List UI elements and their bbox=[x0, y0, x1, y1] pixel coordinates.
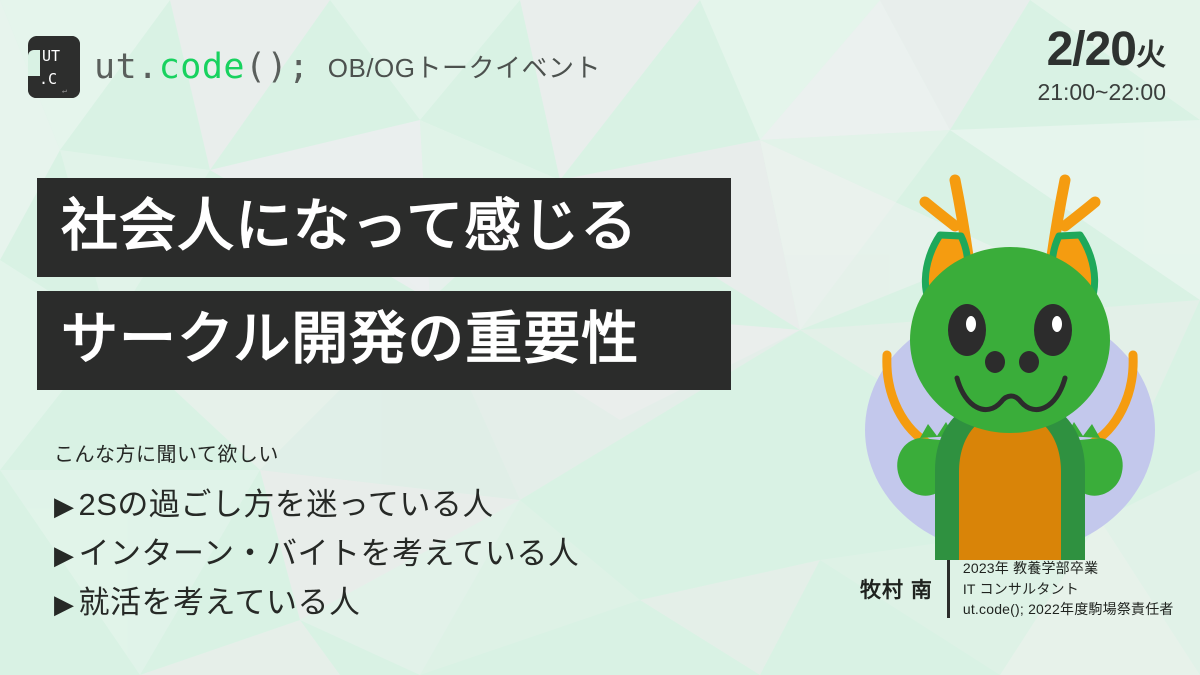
audience-lead: こんな方に聞いて欲しい bbox=[54, 443, 579, 467]
audience-item: ▶ インターン・バイトを考えている人 bbox=[54, 530, 579, 579]
speaker-block: 牧村 南 2023年 教養学部卒業 IT コンサルタント ut.code(); … bbox=[860, 558, 1174, 620]
triangle-bullet-icon: ▶ bbox=[54, 584, 75, 625]
date-block: 2/20火 21:00~22:00 bbox=[1037, 26, 1166, 108]
svg-text:UT: UT bbox=[42, 47, 60, 65]
svg-text:.C: .C bbox=[39, 70, 57, 88]
event-date-value: 2/20 bbox=[1047, 23, 1136, 76]
event-time: 21:00~22:00 bbox=[1037, 78, 1166, 108]
wordmark-prefix: ut. bbox=[94, 47, 159, 87]
audience-block: こんな方に聞いて欲しい ▶ 2Sの過ごし方を迷っている人 ▶ インターン・バイト… bbox=[54, 443, 579, 628]
dragon-mascot-icon bbox=[845, 140, 1175, 560]
triangle-bullet-icon: ▶ bbox=[54, 486, 75, 527]
speaker-credits: 2023年 教養学部卒業 IT コンサルタント ut.code(); 2022年… bbox=[963, 558, 1174, 620]
audience-item: ▶ 2Sの過ごし方を迷っている人 bbox=[54, 481, 579, 530]
event-date: 2/20火 bbox=[1037, 26, 1166, 74]
utc-logo-icon: UT .C ↵ bbox=[28, 36, 80, 98]
header: UT .C ↵ ut.code(); OB/OGトークイベント 2/20火 21… bbox=[0, 0, 1200, 130]
audience-item: ▶ 就活を考えている人 bbox=[54, 579, 579, 628]
title-line-2: サークル開発の重要性 bbox=[37, 291, 731, 390]
wordmark: ut.code(); bbox=[94, 50, 310, 85]
speaker-credit-line: 2023年 教養学部卒業 bbox=[963, 558, 1174, 579]
audience-item-label: インターン・バイトを考えている人 bbox=[79, 530, 580, 579]
brand-block: UT .C ↵ ut.code(); OB/OGトークイベント bbox=[28, 36, 601, 98]
speaker-name: 牧村 南 bbox=[860, 574, 947, 604]
speaker-divider bbox=[947, 560, 950, 618]
title-line-1: 社会人になって感じる bbox=[37, 178, 731, 277]
wordmark-suffix: (); bbox=[245, 47, 310, 87]
audience-item-label: 就活を考えている人 bbox=[79, 579, 361, 628]
event-day-of-week: 火 bbox=[1136, 39, 1166, 72]
audience-item-label: 2Sの過ごし方を迷っている人 bbox=[79, 481, 494, 530]
event-kind-label: OB/OGトークイベント bbox=[324, 48, 601, 86]
triangle-bullet-icon: ▶ bbox=[54, 535, 75, 576]
svg-text:↵: ↵ bbox=[62, 86, 67, 95]
event-poster: UT .C ↵ ut.code(); OB/OGトークイベント 2/20火 21… bbox=[0, 0, 1200, 675]
wordmark-accent: code bbox=[159, 47, 245, 87]
speaker-credit-line: IT コンサルタント bbox=[963, 579, 1174, 600]
speaker-credit-line: ut.code(); 2022年度駒場祭責任者 bbox=[963, 599, 1174, 620]
title-group: 社会人になって感じる サークル開発の重要性 bbox=[37, 178, 731, 390]
